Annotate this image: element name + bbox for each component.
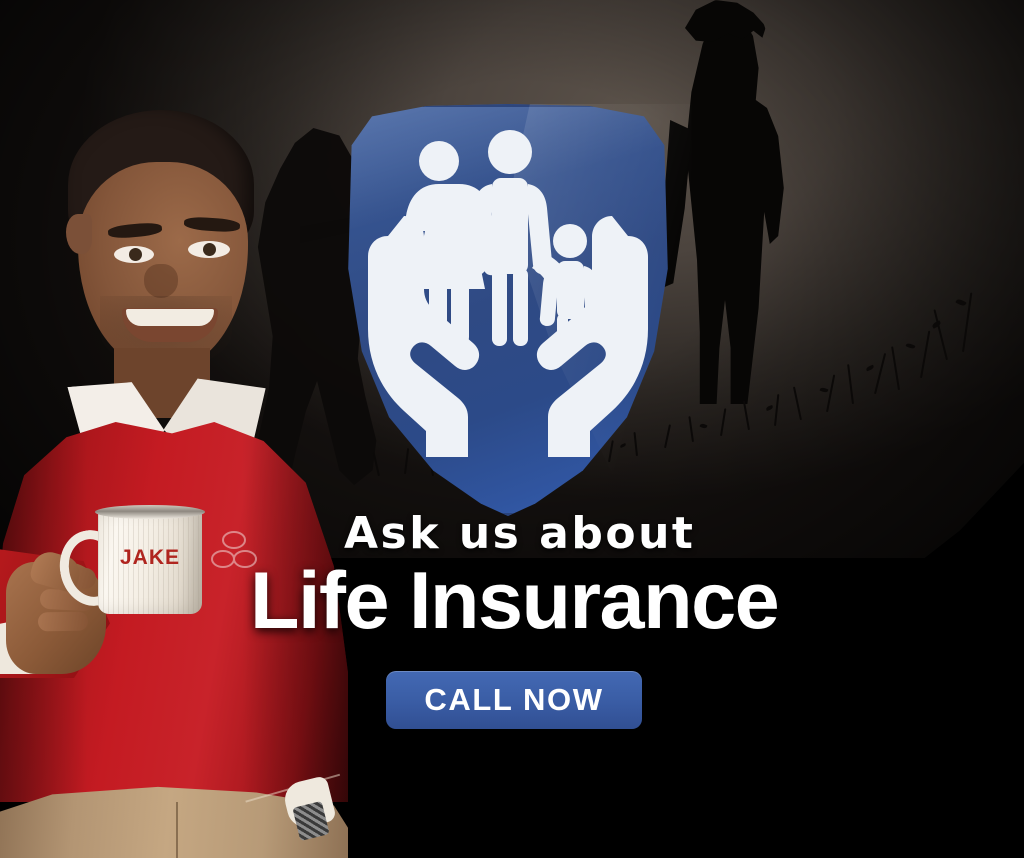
call-now-button[interactable]: CALL NOW bbox=[386, 671, 642, 729]
ad-kicker-text: Ask us about bbox=[344, 508, 695, 559]
ad-headline-text: Life Insurance bbox=[250, 561, 778, 642]
ad-copy-block: Ask us about Life Insurance CALL NOW bbox=[0, 0, 1024, 858]
life-insurance-advertisement: Jake State Farm JAKE Ask us about Life I… bbox=[0, 0, 1024, 858]
